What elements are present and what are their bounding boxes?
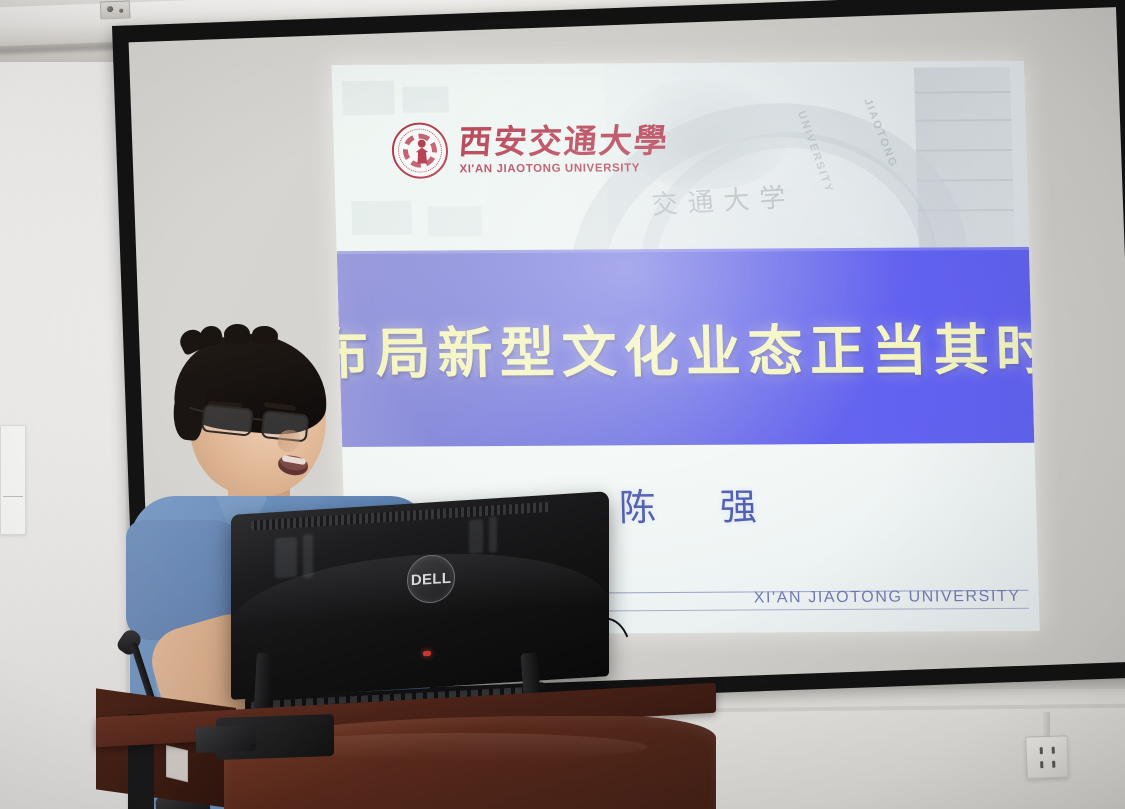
university-logo: 西安交通大學 XI'AN JIAOTONG UNIVERSITY [391,121,670,179]
logo-english-name: XI'AN JIAOTONG UNIVERSITY [459,162,669,175]
outlet-conduit [1043,712,1050,738]
podium-label [166,745,188,782]
dell-logo-text: DELL [411,569,451,589]
monitor-power-led [423,651,431,657]
presenter-name: 陈 强 [618,476,783,531]
monitor-vent [251,502,551,531]
slide-header: JIAOTONG UNIVERSITY 交通大学 [332,61,1029,251]
lecture-hall-photo: E M JIAOTONG UNIVER [0,0,1125,809]
wall-notice [0,425,26,535]
logo-chinese-name: 西安交通大學 [457,124,670,160]
slide-footer-brand: XI'AN JIAOTONG UNIVERSITY [754,588,1021,608]
podium-equipment-secondary [196,725,256,753]
wall-power-outlet[interactable] [1025,735,1068,778]
university-seal-icon [391,122,449,178]
wooden-podium [96,700,716,809]
